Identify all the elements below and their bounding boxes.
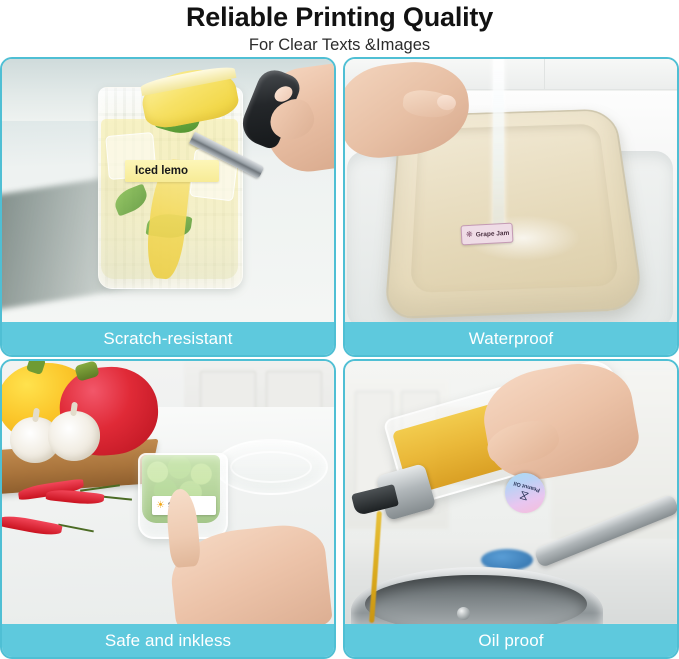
water-stream xyxy=(493,59,504,233)
label-text: Grape Jam xyxy=(476,229,510,238)
sun-icon: ☀ xyxy=(156,501,165,511)
caption-oil-proof: Oil proof xyxy=(345,624,677,657)
dish-interior xyxy=(410,124,620,293)
photo-oil-proof: ⧖ Peanut Oil xyxy=(345,361,677,624)
caption-safe-and-inkless: Safe and inkless xyxy=(2,624,334,657)
page-title: Reliable Printing Quality xyxy=(0,0,679,33)
feature-grid: Iced lemo Scratch-resistant ❋ xyxy=(0,57,679,658)
feature-panel-scratch-resistant[interactable]: Iced lemo Scratch-resistant xyxy=(0,57,336,357)
photo-safe-and-inkless: ☀ Sun xyxy=(2,361,334,624)
page-header: Reliable Printing Quality For Clear Text… xyxy=(0,0,679,56)
label-text: Iced lemo xyxy=(135,165,188,177)
feature-panel-oil-proof[interactable]: ⧖ Peanut Oil Oil proof xyxy=(343,359,679,659)
photo-scratch-resistant: Iced lemo xyxy=(2,59,334,322)
caption-waterproof: Waterproof xyxy=(345,322,677,355)
caption-scratch-resistant: Scratch-resistant xyxy=(2,322,334,355)
garlic-bulb xyxy=(48,411,100,461)
product-label-scratch: Iced lemo xyxy=(125,160,219,182)
feature-panel-waterproof[interactable]: ❋ Grape Jam Waterproof xyxy=(343,57,679,357)
container-lid xyxy=(214,439,328,495)
photo-waterproof: ❋ Grape Jam xyxy=(345,59,677,322)
pan-interior xyxy=(365,575,587,624)
feature-panel-safe-and-inkless[interactable]: ☀ Sun Safe and inkless xyxy=(0,359,336,659)
product-label-waterproof: ❋ Grape Jam xyxy=(461,223,514,246)
pan-rivet xyxy=(457,607,470,620)
page-subtitle: For Clear Texts &Images xyxy=(0,33,679,56)
grape-icon: ❋ xyxy=(466,231,473,239)
droplet-icon: ⧖ xyxy=(518,489,530,504)
